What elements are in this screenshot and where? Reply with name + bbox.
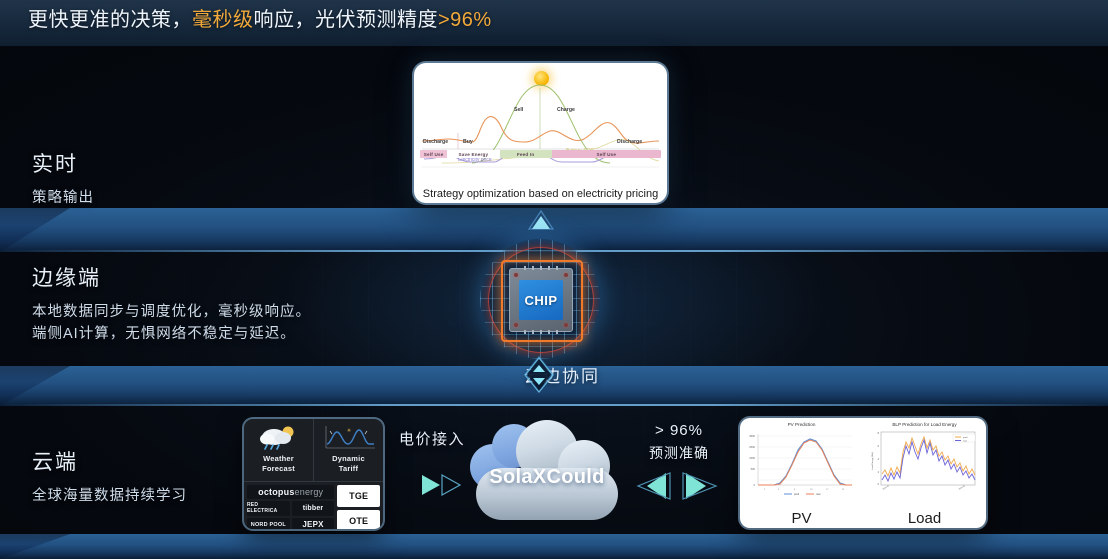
- data-sources-card[interactable]: Weather Forecast ✳ Dynamic Tariff: [244, 419, 383, 529]
- strategy-plot: Discharge Buy Sell Charge Discharge Elec…: [414, 63, 667, 178]
- solax-cloud-graphic[interactable]: SolaXCould: [466, 418, 628, 528]
- pv-prediction-panel: PV Prediction 3500 2500 1500 500 0 159: [740, 418, 863, 528]
- row-subtitle-cloud: 全球海量数据持续学习: [32, 485, 187, 507]
- tariff-label-line1: Dynamic: [332, 454, 365, 463]
- svg-text:21: 21: [842, 489, 845, 491]
- row-label-edge: 边缘端 本地数据同步与调度优化，毫秒级响应。 端侧AI计算，无惧网络不稳定与延迟…: [32, 262, 311, 345]
- svg-text:real: real: [816, 492, 821, 496]
- logo-ote[interactable]: OTE: [337, 510, 380, 529]
- mode-segment: Self Use: [420, 150, 447, 158]
- mode-segment: Self Use: [552, 150, 661, 158]
- prediction-charts-card[interactable]: PV Prediction 3500 2500 1500 500 0 159: [740, 418, 986, 528]
- weather-label-line1: Weather: [263, 454, 294, 463]
- svg-text:1: 1: [764, 489, 766, 491]
- row-label-cloud: 云端 全球海量数据持续学习: [32, 446, 187, 507]
- load-prediction-panel: BLP Prediction for Load Energy 8 6 4 2 0…: [863, 418, 986, 528]
- headline-part2: 响应，光伏预测精度: [254, 9, 439, 31]
- strategy-chart-svg: [414, 63, 667, 178]
- tariff-label-line2: Tariff: [339, 464, 358, 473]
- flow-arrow-pair: [636, 470, 718, 507]
- sync-arrows-icon: [524, 356, 554, 394]
- headline-highlight1: 毫秒级: [192, 9, 254, 31]
- svg-text:500: 500: [751, 467, 756, 471]
- page-headline: 更快更准的决策，毫秒级响应，光伏预测精度>96%: [28, 6, 492, 34]
- mode-segment: Feed In: [500, 150, 552, 158]
- svg-text:4: 4: [878, 458, 880, 461]
- weather-forecast-cell[interactable]: Weather Forecast: [244, 419, 313, 481]
- svg-text:0: 0: [878, 483, 880, 486]
- row-subtitle-realtime: 策略输出: [32, 187, 94, 209]
- tariff-curve-icon: ✳: [321, 424, 377, 452]
- mode-segment: Save Energy: [447, 150, 499, 158]
- accuracy-label: 预测准确: [637, 443, 721, 463]
- logo-tibber[interactable]: tibber: [292, 501, 335, 515]
- strategy-mode-band: Self Use Save Energy Feed In Self Use: [420, 150, 661, 158]
- weather-cloud-rain-icon: [257, 424, 301, 452]
- headline-part1: 更快更准的决策，: [28, 9, 192, 31]
- load-chart-svg: 8 6 4 2 0 pred real Load Energy (Wh) 202…: [867, 428, 979, 496]
- row-desc-edge-line1: 本地数据同步与调度优化，毫秒级响应。: [32, 301, 311, 323]
- dynamic-tariff-cell[interactable]: ✳ Dynamic Tariff: [313, 419, 383, 481]
- pv-chart-svg: 3500 2500 1500 500 0 159 131721 pred rea…: [744, 428, 856, 496]
- strategy-label-charge: Charge: [557, 107, 575, 113]
- price-access-label: 电价接入: [399, 428, 465, 449]
- logo-octopus-text: octopus: [258, 487, 294, 497]
- svg-text:1500: 1500: [749, 456, 755, 460]
- row-title-edge: 边缘端: [32, 262, 311, 292]
- logo-jepx[interactable]: JEPX: [292, 518, 335, 529]
- svg-text:0: 0: [754, 483, 756, 487]
- separator-band-cloud: [0, 534, 1108, 559]
- svg-text:✳: ✳: [346, 428, 350, 434]
- svg-text:2500: 2500: [749, 445, 755, 449]
- svg-text:pred: pred: [794, 492, 800, 496]
- strategy-label-discharge-right: Discharge: [617, 139, 642, 145]
- svg-text:pred: pred: [963, 436, 968, 439]
- cloud-edge-sync: 云边协同: [524, 362, 600, 387]
- logo-red-electrica[interactable]: RED ELECTRICA: [247, 501, 290, 515]
- chip-body: CHIP: [509, 268, 573, 332]
- weather-forecast-label: Weather Forecast: [262, 454, 295, 474]
- accuracy-block: > 96% 预测准确: [637, 422, 721, 463]
- logo-tge[interactable]: TGE: [337, 485, 380, 507]
- row-desc-edge-line2: 端侧AI计算，无惧网络不稳定与延迟。: [32, 323, 311, 345]
- pv-chart-footer: PV: [740, 510, 863, 527]
- svg-text:Load Energy (Wh): Load Energy (Wh): [871, 452, 874, 470]
- logo-energy-text: energy: [295, 487, 324, 497]
- svg-text:6: 6: [878, 445, 880, 448]
- svg-text:real: real: [963, 440, 967, 443]
- svg-text:3500: 3500: [749, 434, 755, 438]
- svg-text:13: 13: [810, 489, 813, 491]
- svg-text:2024-01: 2024-01: [882, 485, 890, 491]
- svg-text:9: 9: [794, 489, 796, 491]
- svg-text:8: 8: [878, 432, 880, 435]
- cloud-label: SolaXCould: [466, 466, 628, 489]
- flow-arrow-right-group: [418, 470, 464, 505]
- edge-chip-graphic: CHIP: [473, 237, 607, 361]
- pv-chart-title: PV Prediction: [744, 422, 859, 427]
- chip-label: CHIP: [524, 293, 557, 308]
- strategy-label-sell: Sell: [514, 107, 523, 113]
- weather-label-line2: Forecast: [262, 464, 295, 473]
- dynamic-tariff-label: Dynamic Tariff: [332, 454, 365, 474]
- accuracy-value: > 96%: [637, 422, 721, 439]
- svg-text:2024-02: 2024-02: [958, 485, 966, 491]
- load-chart-title: BLP Prediction for Load Energy: [867, 422, 982, 427]
- chip-die: CHIP: [519, 280, 563, 320]
- svg-text:17: 17: [826, 489, 829, 491]
- svg-text:5: 5: [778, 489, 780, 491]
- strategy-chart-card[interactable]: Discharge Buy Sell Charge Discharge Elec…: [414, 63, 667, 203]
- strategy-label-buy: Buy: [463, 139, 473, 145]
- logo-nord-pool[interactable]: NORD POOL: [247, 518, 290, 529]
- svg-text:2: 2: [878, 471, 880, 474]
- strategy-card-caption: Strategy optimization based on electrici…: [414, 188, 667, 200]
- logo-octopus-energy[interactable]: octopusenergy: [247, 485, 334, 499]
- infographic-root: 更快更准的决策，毫秒级响应，光伏预测精度>96% 实时 策略输出 边缘端 本地数…: [0, 0, 1108, 559]
- row-title-cloud: 云端: [32, 446, 187, 476]
- load-chart-footer: Load: [863, 510, 986, 527]
- headline-highlight2: >96%: [438, 9, 492, 31]
- chevron-up-icon: [527, 210, 555, 232]
- row-label-realtime: 实时 策略输出: [32, 148, 94, 209]
- strategy-label-discharge-left: Discharge: [423, 139, 448, 145]
- row-title-realtime: 实时: [32, 148, 94, 178]
